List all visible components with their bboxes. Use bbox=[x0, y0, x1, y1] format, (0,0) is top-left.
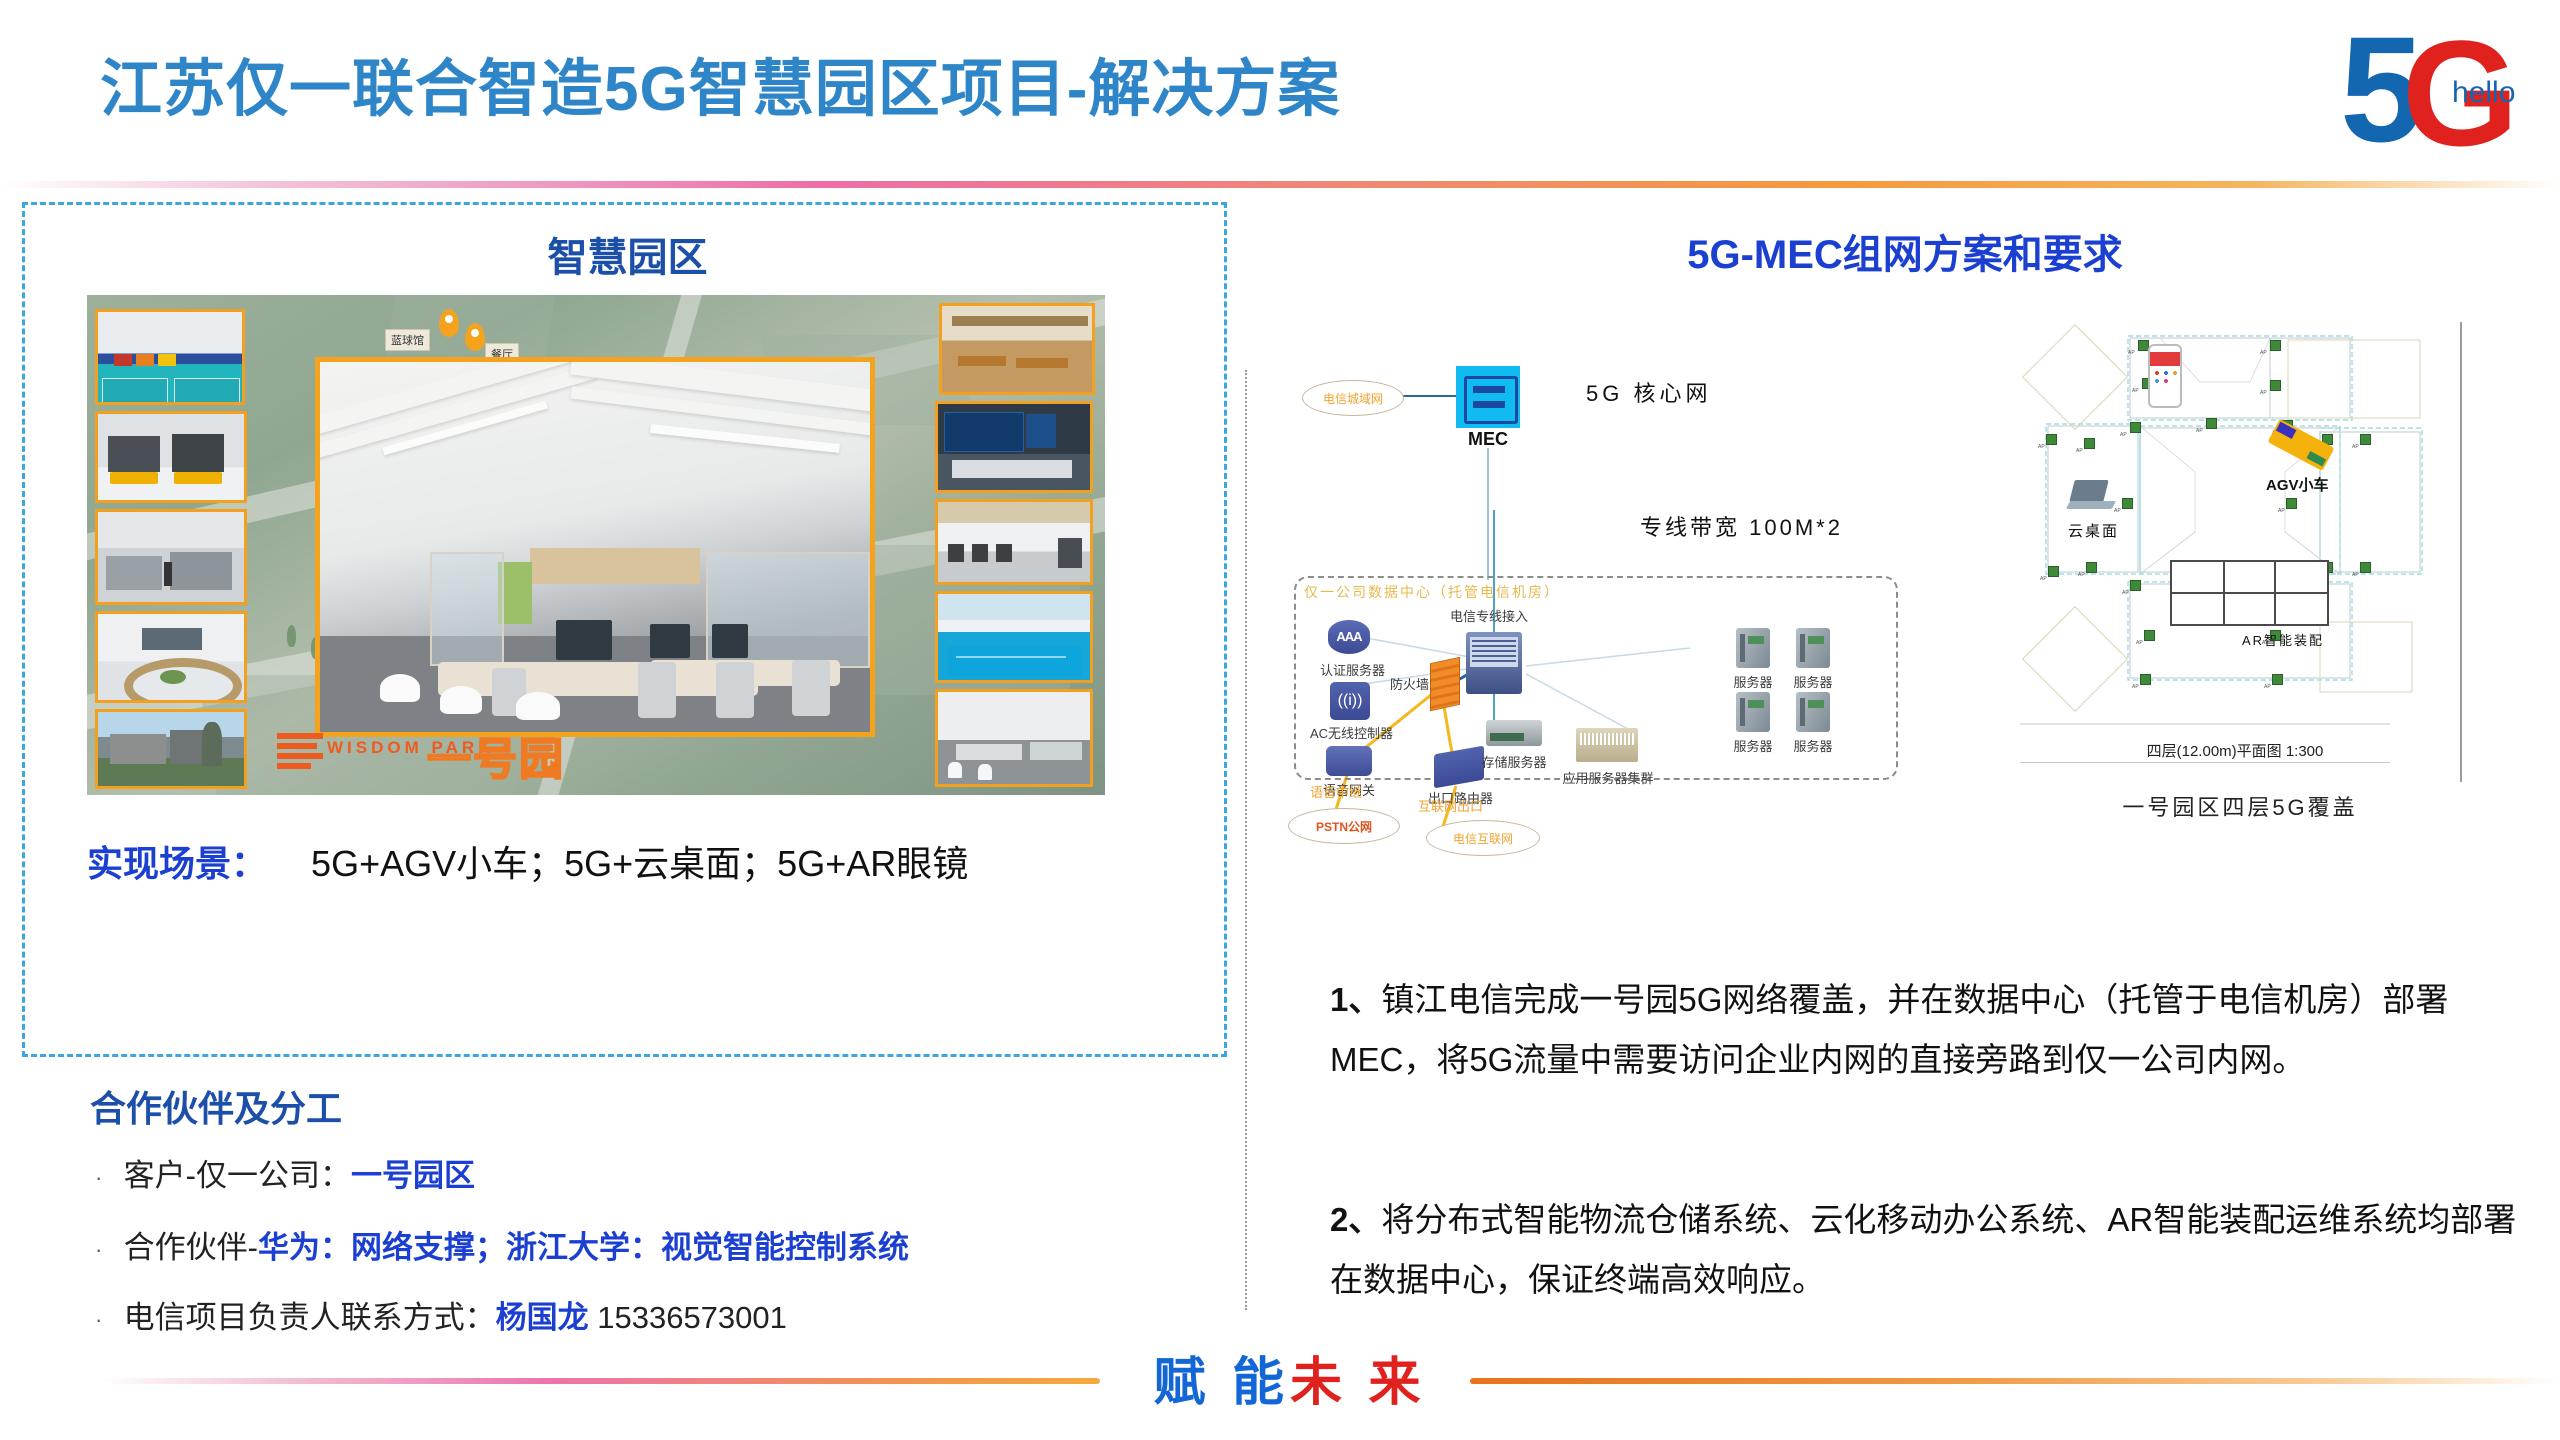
note-text: 将分布式智能物流仓储系统、云化移动办公系统、AR智能装配运维系统均部署在数据中心… bbox=[1330, 1201, 2516, 1298]
footer-rule-left bbox=[100, 1378, 1100, 1384]
footer-slogan: 赋 能未 来 bbox=[1110, 1340, 1470, 1415]
cloud-desktop-label: 云桌面 bbox=[2068, 520, 2119, 541]
map-pin-icon bbox=[439, 309, 459, 337]
voice-gateway-node bbox=[1326, 746, 1372, 776]
ac-controller-node: ((i)) bbox=[1330, 682, 1370, 720]
smart-park-title: 智慧园区 bbox=[25, 225, 1230, 283]
mec-section-title: 5G-MEC组网方案和要求 bbox=[1270, 222, 2540, 280]
bullet-highlight: 华为：网络支撑；浙江大学：视觉智能控制系统 bbox=[258, 1230, 909, 1265]
bandwidth-annotation: 专线带宽 100M*2 bbox=[1640, 510, 1843, 542]
scene-label: 实现场景： bbox=[87, 843, 267, 884]
voice-trunk-label: 语音中继 bbox=[1310, 782, 1362, 801]
network-topology-diagram: 电信城域网 MEC 5G 核心网 专线带宽 100M*2 仅一公司数据中心（托管… bbox=[1290, 330, 1930, 860]
aaa-server-label: 认证服务器 bbox=[1320, 660, 1378, 679]
map-pin-icon bbox=[465, 323, 485, 351]
agv-label: AGV小车 bbox=[2266, 474, 2329, 495]
firewall-label: 防火墙 bbox=[1390, 674, 1429, 693]
page-title: 江苏仅一联合智造5G智慧园区项目-解决方案 bbox=[100, 38, 1340, 128]
footer-slogan-red: 未 来 bbox=[1290, 1354, 1426, 1412]
blade-server-4 bbox=[1796, 692, 1830, 732]
tape-library-label: 应用服务器集群 bbox=[1560, 768, 1656, 787]
datacenter-title: 仅一公司数据中心（托管电信机房） bbox=[1304, 582, 1560, 602]
wisdom-park-logo: WISDOM PARK 一号园 bbox=[277, 727, 577, 783]
note-item: 2、将分布式智能物流仓储系统、云化移动办公系统、AR智能装配运维系统均部署在数据… bbox=[1330, 1190, 2530, 1310]
bullet-highlight: 杨国龙 bbox=[496, 1300, 589, 1335]
bullet-phone: 15336573001 bbox=[589, 1300, 787, 1335]
open-office-photo bbox=[935, 689, 1093, 787]
ac-controller-label: AC无线控制器 bbox=[1310, 723, 1390, 742]
logo-hello-text: hello bbox=[2452, 76, 2515, 110]
factory-floor-photo bbox=[95, 509, 247, 605]
note-text: 镇江电信完成一号园5G网络覆盖，并在数据中心（托管于电信机房）部署MEC，将5G… bbox=[1330, 981, 2448, 1078]
list-item: · 电信项目负责人联系方式：杨国龙 15336573001 bbox=[95, 1292, 787, 1337]
swimming-pool-photo bbox=[935, 591, 1093, 683]
link-label: 电信专线接入 bbox=[1450, 606, 1528, 625]
header-gradient-rule bbox=[0, 181, 2560, 188]
internet-egress-label: 互联网出口 bbox=[1418, 796, 1483, 815]
blade-server-1 bbox=[1736, 628, 1770, 668]
tape-library-node bbox=[1576, 728, 1638, 762]
control-room-photo bbox=[935, 401, 1093, 493]
ar-phone-icon bbox=[2148, 344, 2182, 408]
column-divider bbox=[1245, 370, 1247, 1310]
core-network-annotation: 5G 核心网 bbox=[1586, 376, 1711, 408]
floorplan-caption: 四层(12.00m)平面图 1:300 bbox=[2020, 740, 2450, 761]
core-switch-node bbox=[1466, 632, 1522, 694]
bullet-highlight: 一号园区 bbox=[351, 1158, 475, 1193]
blade-server-2 bbox=[1796, 628, 1830, 668]
footer-slogan-blue: 赋 能 bbox=[1154, 1354, 1290, 1412]
bullet-dot-icon: · bbox=[95, 1307, 115, 1333]
map-pin-label-basketball: 蓝球馆 bbox=[385, 329, 430, 351]
canteen-photo bbox=[939, 303, 1095, 395]
smart-park-collage: 蓝球馆 餐厅 bbox=[87, 295, 1105, 795]
ar-glasses-label: AR智能装配 bbox=[2242, 630, 2324, 649]
blade-server-3 bbox=[1736, 692, 1770, 732]
campus-building-exterior-photo bbox=[95, 709, 247, 789]
note-item: 1、镇江电信完成一号园5G网络覆盖，并在数据中心（托管于电信机房）部署MEC，将… bbox=[1330, 970, 2530, 1090]
wisdom-park-cn: 一号园 bbox=[427, 723, 565, 787]
blade-server-4-label: 服务器 bbox=[1792, 736, 1834, 755]
internet-cloud: 电信互联网 bbox=[1426, 820, 1540, 856]
mec-node-label: MEC bbox=[1456, 429, 1520, 450]
pstn-cloud: PSTN公网 bbox=[1288, 808, 1400, 844]
smart-open-office-photo bbox=[315, 357, 875, 737]
firewall-node bbox=[1430, 657, 1460, 711]
footer-rule-right bbox=[1470, 1378, 2560, 1384]
5g-hello-logo: 5 G hello bbox=[2340, 14, 2520, 166]
floorplan-image: AP AP AP AP AP AP AP AP AP AP AP AP AP A… bbox=[2020, 322, 2462, 782]
bullet-prefix: 电信项目负责人联系方式： bbox=[124, 1300, 496, 1335]
slide-header: 江苏仅一联合智造5G智慧园区项目-解决方案 5 G hello bbox=[0, 0, 2560, 190]
bullet-dot-icon: · bbox=[95, 1165, 115, 1191]
laptop-icon bbox=[2068, 480, 2114, 510]
storage-label: 存储服务器 bbox=[1478, 752, 1550, 771]
gymnasium-pool-photo bbox=[95, 309, 245, 405]
telecom-man-cloud: 电信城域网 bbox=[1302, 380, 1404, 416]
blade-server-1-label: 服务器 bbox=[1732, 672, 1774, 691]
smart-park-panel: 智慧园区 bbox=[22, 202, 1227, 1057]
bullet-prefix: 客户-仅一公司： bbox=[124, 1158, 351, 1193]
storage-node bbox=[1486, 720, 1542, 746]
note-number: 1、 bbox=[1330, 981, 1381, 1018]
bullet-prefix: 合作伙伴- bbox=[124, 1230, 258, 1265]
list-item: · 合作伙伴-华为：网络支撑；浙江大学：视觉智能控制系统 bbox=[95, 1222, 909, 1267]
bullet-dot-icon: · bbox=[95, 1237, 115, 1263]
scene-value: 5G+AGV小车；5G+云桌面；5G+AR眼镜 bbox=[311, 843, 968, 884]
blade-server-3-label: 服务器 bbox=[1732, 736, 1774, 755]
list-item: · 客户-仅一公司：一号园区 bbox=[95, 1150, 475, 1195]
blade-server-2-label: 服务器 bbox=[1792, 672, 1834, 691]
note-number: 2、 bbox=[1330, 1201, 1381, 1238]
floorplan-grid-overlay bbox=[2170, 560, 2329, 626]
floorplan-subcaption: 一号园区四层5G覆盖 bbox=[2020, 790, 2460, 822]
mec-node-icon bbox=[1456, 366, 1520, 428]
partners-title: 合作伙伴及分工 bbox=[90, 1080, 342, 1132]
wisdom-park-bars-icon bbox=[277, 733, 323, 771]
scene-line: 实现场景： 5G+AGV小车；5G+云桌面；5G+AR眼镜 bbox=[87, 835, 1187, 887]
agv-warehouse-photo bbox=[95, 411, 247, 503]
aaa-server-node: AAA bbox=[1328, 620, 1370, 654]
gym-photo bbox=[935, 499, 1093, 585]
floorplan-rule bbox=[2020, 762, 2390, 763]
round-conference-room-photo bbox=[95, 611, 247, 703]
